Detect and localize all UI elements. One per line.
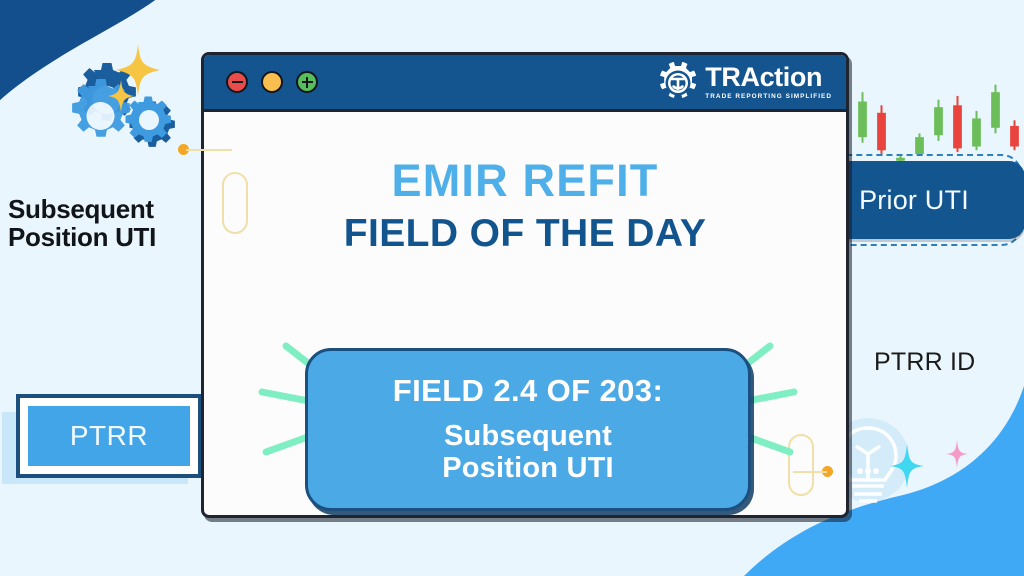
ptrr-button-frame: PTRR: [16, 394, 202, 478]
headline-primary: EMIR REFIT: [204, 158, 846, 203]
headline-block: EMIR REFIT FIELD OF THE DAY: [204, 112, 846, 253]
ptrr-button-fill: PTRR: [28, 406, 190, 466]
sparkle-gold-small-icon: [108, 80, 134, 117]
logo-name: TRAction: [705, 64, 832, 91]
sparkle-cyan-icon: [890, 444, 924, 493]
annotation-line-1: Subsequent: [8, 196, 208, 224]
window-content: EMIR REFIT FIELD OF THE DAY FIELD 2.4 OF: [204, 112, 846, 518]
field-card-subtitle: Subsequent Position UTI: [442, 420, 614, 485]
maximize-circle-icon[interactable]: [261, 71, 283, 93]
ptrr-button[interactable]: PTRR: [16, 394, 202, 478]
gear-logo-icon: [658, 62, 698, 102]
window-controls: [226, 71, 318, 93]
connector-line-left: [186, 149, 232, 151]
traction-logo-text: TRAction TRADE REPORTING SIMPLIFIED: [705, 64, 832, 100]
field-card-area: FIELD 2.4 OF 203: Subsequent Position UT…: [204, 340, 846, 518]
field-card-subtitle-line-1: Subsequent: [442, 420, 614, 452]
connector-bracket-left: [222, 172, 248, 234]
prior-uti-label: Prior UTI: [859, 185, 969, 216]
logo-tagline: TRADE REPORTING SIMPLIFIED: [705, 94, 832, 100]
annotation-subsequent-position-uti: Subsequent Position UTI: [8, 196, 208, 251]
sparkle-pink-icon: [946, 440, 968, 473]
window-titlebar: TRAction TRADE REPORTING SIMPLIFIED: [204, 55, 846, 112]
field-of-the-day-card: FIELD 2.4 OF 203: Subsequent Position UT…: [305, 348, 751, 511]
connector-line-right: [793, 471, 827, 473]
plus-circle-icon[interactable]: [296, 71, 318, 93]
ptrr-button-label: PTRR: [70, 420, 148, 452]
headline-secondary: FIELD OF THE DAY: [204, 214, 846, 253]
field-card-title: FIELD 2.4 OF 203:: [393, 375, 663, 406]
minimize-circle-icon[interactable]: [226, 71, 248, 93]
annotation-line-2: Position UTI: [8, 224, 208, 252]
browser-window: TRAction TRADE REPORTING SIMPLIFIED EMIR…: [201, 52, 849, 518]
annotation-ptrr-id: PTRR ID: [874, 348, 975, 377]
poster-canvas: Subsequent Position UTI PTRR Prior UTI P…: [0, 0, 1024, 576]
traction-logo: TRAction TRADE REPORTING SIMPLIFIED: [658, 62, 832, 102]
field-card-subtitle-line-2: Position UTI: [442, 452, 614, 484]
